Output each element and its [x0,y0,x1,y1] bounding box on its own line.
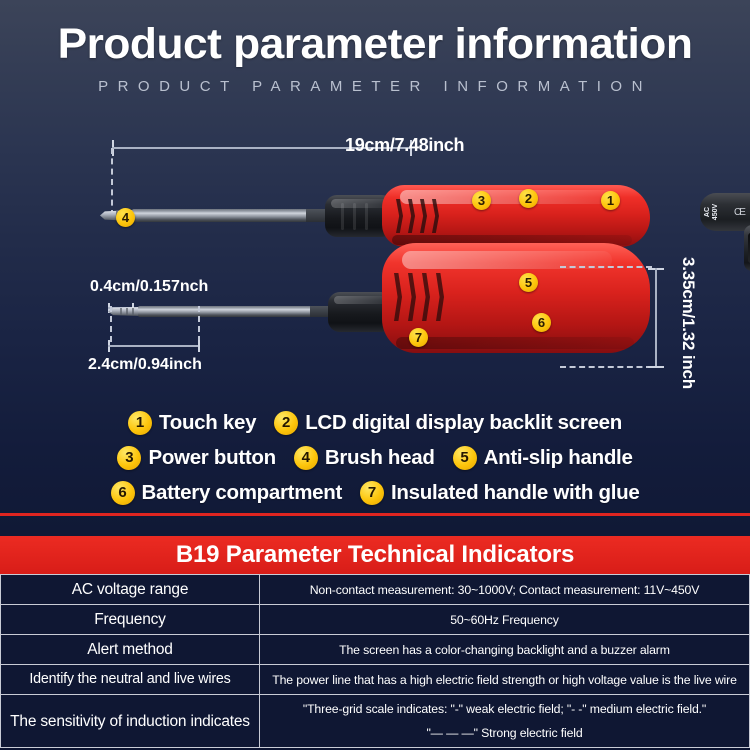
dashed-guide [110,306,112,342]
total-length-label: 19cm/7.48inch [345,135,464,156]
legend-row: 1 Touch key 2 LCD digital display backli… [0,405,750,440]
legend-badge-4: 4 [294,446,318,470]
row-value: The screen has a color-changing backligh… [260,635,750,665]
row-label: AC voltage range [1,575,260,605]
chevron-grip-icon [432,199,439,233]
legend-badge-6: 6 [111,481,135,505]
row-label: The sensitivity of induction indicates [1,695,260,748]
row-label: Identify the neutral and live wires [1,665,260,695]
legend-label-5: Anti-slip handle [484,446,633,470]
chevron-grip-icon [436,273,444,321]
spec-table-title: B19 Parameter Technical Indicators [0,536,750,574]
dashed-guide-horizontal [560,266,652,268]
spec-table-section: B19 Parameter Technical Indicators AC vo… [0,536,750,748]
chevron-grip-icon [408,199,415,233]
chevron-grip-icon [422,273,430,321]
tip-length-label: 2.4cm/0.94inch [88,356,202,374]
row-label: Frequency [1,605,260,635]
callout-badge-3: 3 [472,191,491,210]
screwdriver-top-view: AC 450V CE HEL ANENG B19 [100,193,645,248]
legend-item-touch-key: 1 Touch key [128,411,256,435]
page-subtitle: PRODUCT PARAMETER INFORMATION [0,78,750,95]
legend-row: 6 Battery compartment 7 Insulated handle… [0,475,750,510]
legend-label-2: LCD digital display backlit screen [305,411,622,435]
page-title: Product parameter information [0,20,750,69]
legend-label-4: Brush head [325,446,435,470]
ce-mark-icon: CE [734,207,744,218]
callout-badge-6: 6 [532,313,551,332]
legend-label-7: Insulated handle with glue [391,481,639,505]
battery-compartment[interactable]: TO AVOID ELECTRIC SHOCK DO NOT OPEN OR R… [744,225,750,271]
row-value: 50~60Hz Frequency [260,605,750,635]
dashed-guide [198,306,200,342]
callout-badge-7: 7 [409,328,428,347]
row-value: Non-contact measurement: 30~1000V; Conta… [260,575,750,605]
legend-badge-7: 7 [360,481,384,505]
legend-label-6: Battery compartment [142,481,343,505]
brush-head-tip-icon [108,307,140,316]
legend-label-1: Touch key [159,411,256,435]
tip-length-measure-line [108,340,200,352]
legend-badge-5: 5 [453,446,477,470]
table-row: The sensitivity of induction indicates "… [1,695,750,748]
table-row: Identify the neutral and live wires The … [1,665,750,695]
collar-ridge [353,203,356,230]
metal-shaft [138,306,334,317]
row-value-line2: "— — —" Strong electric field [264,724,745,742]
handle-highlight [400,190,615,204]
row-value-multiline: "Three-grid scale indicates: "-" weak el… [260,695,750,748]
legend-item-power-button: 3 Power button [117,446,275,470]
callout-badge-1: 1 [601,191,620,210]
legend-badge-3: 3 [117,446,141,470]
legend-badge-1: 1 [128,411,152,435]
legend-list: 1 Touch key 2 LCD digital display backli… [0,405,750,510]
section-divider [0,513,750,516]
callout-badge-5: 5 [519,273,538,292]
legend-badge-2: 2 [274,411,298,435]
chevron-grip-icon [408,273,416,321]
spec-table: AC voltage range Non-contact measurement… [0,574,750,748]
collar-ridge [365,203,368,230]
product-spec-page: Product parameter information PRODUCT PA… [0,0,750,750]
row-value-line1: "Three-grid scale indicates: "-" weak el… [303,702,706,716]
callout-badge-4: 4 [116,208,135,227]
legend-item-lcd-screen: 2 LCD digital display backlit screen [274,411,622,435]
legend-label-3: Power button [148,446,275,470]
row-value: The power line that has a high electric … [260,665,750,695]
row-label: Alert method [1,635,260,665]
legend-item-brush-head: 4 Brush head [294,446,435,470]
collar-ridge [341,203,344,230]
handle-height-label: 3.35cm/1.32 inch [678,243,698,403]
page-header: Product parameter information PRODUCT PA… [0,0,750,118]
legend-item-anti-slip-handle: 5 Anti-slip handle [453,446,633,470]
table-row: AC voltage range Non-contact measurement… [1,575,750,605]
legend-item-insulated-handle: 7 Insulated handle with glue [360,481,639,505]
handle-shadow [396,337,634,349]
table-row: Frequency 50~60Hz Frequency [1,605,750,635]
legend-item-battery-compartment: 6 Battery compartment [111,481,343,505]
dashed-guide-horizontal [560,366,652,368]
chevron-grip-icon [420,199,427,233]
chevron-grip-icon [394,273,402,321]
chevron-grip-icon [396,199,403,233]
handle-height-measure-line [648,268,664,368]
voltage-rating-label: AC 450V [704,199,730,225]
table-row: Alert method The screen has a color-chan… [1,635,750,665]
callout-badge-2: 2 [519,189,538,208]
legend-row: 3 Power button 4 Brush head 5 Anti-slip … [0,440,750,475]
product-illustration: 19cm/7.48inch [0,118,750,403]
device-faceplate: AC 450V CE HEL ANENG B19 [700,193,750,231]
metal-shaft [132,209,332,222]
